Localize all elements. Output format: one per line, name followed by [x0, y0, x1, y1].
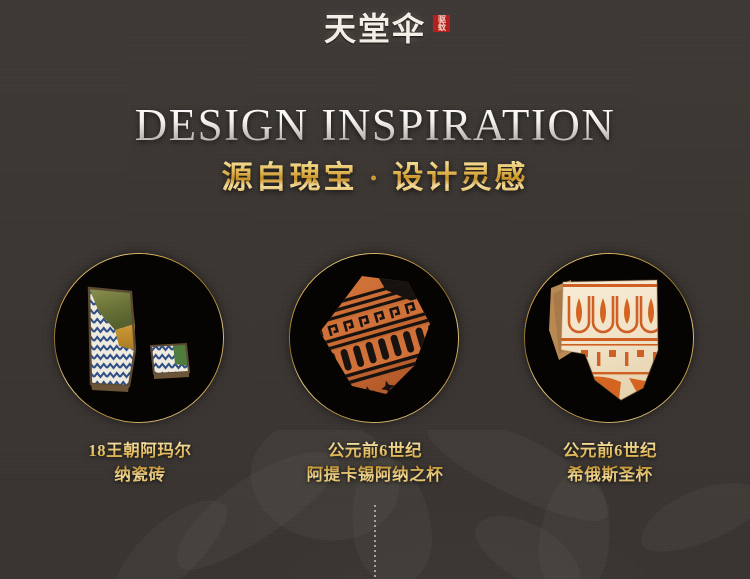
- artifact-card-amarna-tile[interactable]: 18王朝阿玛尔 纳瓷砖: [54, 253, 226, 487]
- artifact-caption-line-2: 阿提卡锡阿纳之杯: [289, 463, 461, 487]
- brand-seal-line-2: 蚊: [433, 24, 450, 32]
- artifact-caption: 公元前6世纪 希俄斯圣杯: [524, 439, 696, 487]
- dotted-divider: [374, 505, 376, 579]
- brand-logo-text: 天堂伞: [324, 11, 426, 47]
- amarna-tile-illustration: [55, 254, 223, 422]
- artifact-card-list: 18王朝阿玛尔 纳瓷砖: [0, 253, 750, 493]
- brand-seal-icon: 驱 蚊: [433, 15, 450, 32]
- artifact-image-amarna-tile: [55, 254, 223, 422]
- artifact-image-ring: [54, 253, 224, 423]
- design-inspiration-page: 天堂伞 驱 蚊 DESIGN INSPIRATION 源自瑰宝 · 设计灵感: [0, 0, 750, 579]
- artifact-image-ring: [289, 253, 459, 423]
- artifact-caption-line-1: 18王朝阿玛尔: [54, 439, 226, 463]
- artifact-image-attic-siana-cup: [290, 254, 458, 422]
- artifact-caption: 18王朝阿玛尔 纳瓷砖: [54, 439, 226, 487]
- artifact-caption-line-1: 公元前6世纪: [289, 439, 461, 463]
- artifact-caption-line-2: 纳瓷砖: [54, 463, 226, 487]
- brand-logo[interactable]: 天堂伞 驱 蚊: [0, 13, 750, 45]
- page-title-english: DESIGN INSPIRATION: [0, 103, 750, 148]
- artifact-image-chios-chalice: [525, 254, 693, 422]
- attic-cup-illustration: [290, 254, 458, 422]
- artifact-caption-line-2: 希俄斯圣杯: [524, 463, 696, 487]
- chios-chalice-illustration: [525, 254, 693, 422]
- artifact-image-ring: [524, 253, 694, 423]
- artifact-caption-line-1: 公元前6世纪: [524, 439, 696, 463]
- artifact-caption: 公元前6世纪 阿提卡锡阿纳之杯: [289, 439, 461, 487]
- artifact-card-attic-siana-cup[interactable]: 公元前6世纪 阿提卡锡阿纳之杯: [289, 253, 461, 487]
- page-title-chinese: 源自瑰宝 · 设计灵感: [0, 160, 750, 196]
- artifact-card-chios-chalice[interactable]: 公元前6世纪 希俄斯圣杯: [524, 253, 696, 487]
